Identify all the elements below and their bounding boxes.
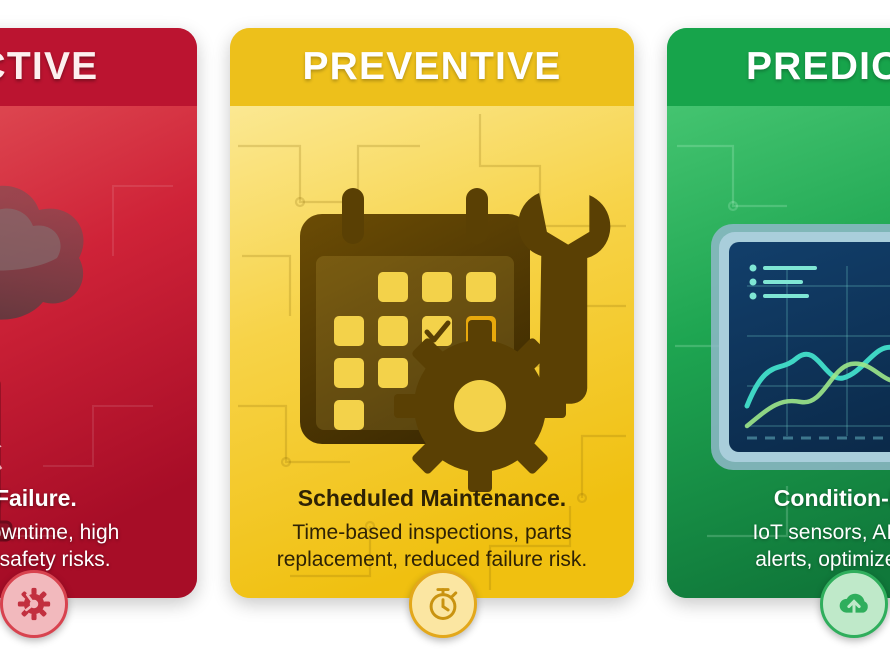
card-predictive-caption: Condition-Based. IoT sensors, AI analyti… bbox=[667, 485, 890, 574]
card-predictive-caption-line1: IoT sensors, AI analytics, bbox=[685, 519, 890, 547]
card-reactive[interactable]: REACTIVE bbox=[0, 28, 197, 598]
maintenance-strategy-cards: REACTIVE bbox=[0, 28, 890, 598]
badge-preventive[interactable] bbox=[409, 570, 477, 638]
card-predictive-header: PREDICTIVE bbox=[667, 28, 890, 106]
card-predictive-body: AI Insight Failure in 7 days Condition-B… bbox=[667, 106, 890, 598]
broken-gear-icon bbox=[17, 587, 51, 621]
card-preventive[interactable]: PREVENTIVE bbox=[230, 28, 634, 598]
card-reactive-body: Run-to-Failure. Unplanned downtime, high… bbox=[0, 106, 197, 598]
cloud-upload-icon bbox=[836, 588, 872, 620]
badge-predictive[interactable] bbox=[820, 570, 888, 638]
stopwatch-icon bbox=[426, 586, 460, 622]
card-preventive-caption-title: Scheduled Maintenance. bbox=[248, 485, 616, 513]
card-reactive-title: REACTIVE bbox=[0, 45, 98, 89]
diagram-canvas: REACTIVE bbox=[0, 0, 890, 664]
card-preventive-caption: Scheduled Maintenance. Time-based inspec… bbox=[230, 485, 634, 574]
tablet-icon bbox=[711, 224, 890, 470]
card-predictive[interactable]: PREDICTIVE bbox=[667, 28, 890, 598]
card-predictive-caption-title: Condition-Based. bbox=[685, 485, 890, 513]
card-reactive-caption-line1: Unplanned downtime, high bbox=[0, 519, 179, 547]
card-preventive-header: PREVENTIVE bbox=[230, 28, 634, 106]
card-preventive-caption-line2: replacement, reduced failure risk. bbox=[248, 546, 616, 574]
card-preventive-body: Scheduled Maintenance. Time-based inspec… bbox=[230, 106, 634, 598]
card-predictive-title: PREDICTIVE bbox=[746, 45, 890, 89]
badge-reactive[interactable] bbox=[0, 570, 68, 638]
card-reactive-caption: Run-to-Failure. Unplanned downtime, high… bbox=[0, 485, 197, 574]
card-reactive-header: REACTIVE bbox=[0, 28, 197, 106]
card-preventive-caption-line1: Time-based inspections, parts bbox=[248, 519, 616, 547]
card-preventive-title: PREVENTIVE bbox=[302, 45, 561, 89]
card-reactive-caption-title: Run-to-Failure. bbox=[0, 485, 179, 513]
